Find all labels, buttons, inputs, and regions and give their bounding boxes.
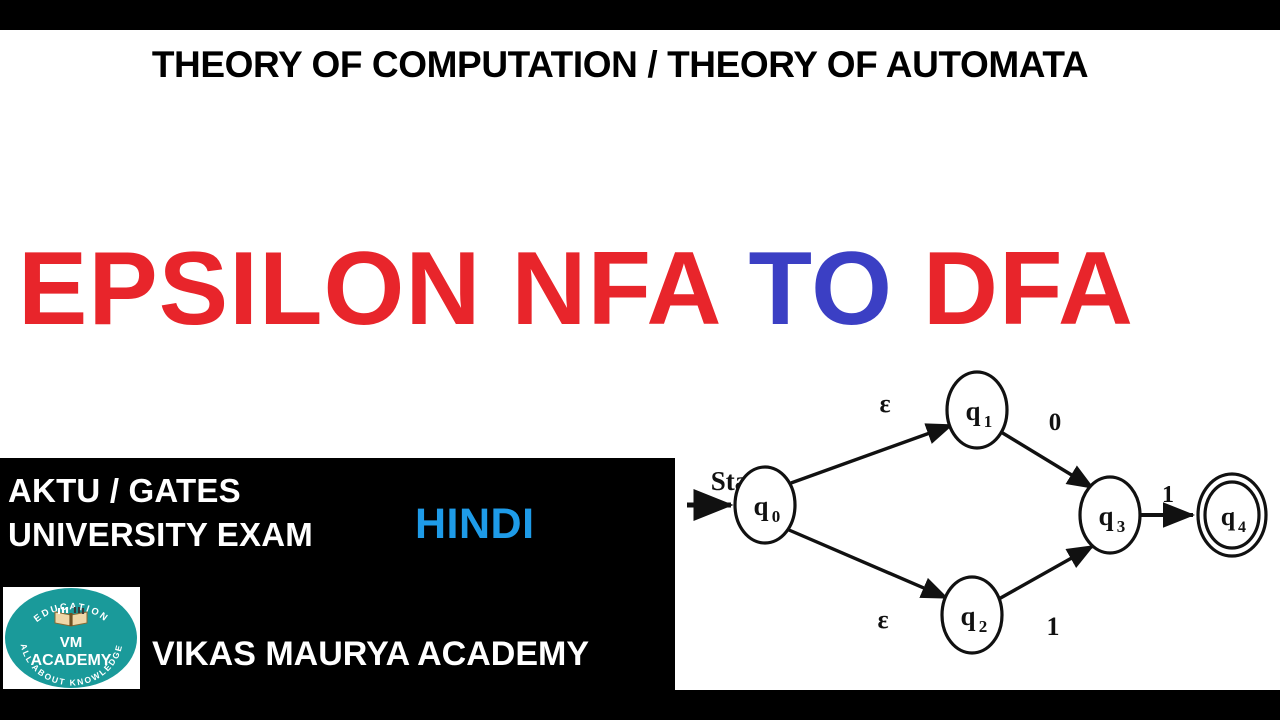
state-node-q1: q 1 bbox=[947, 372, 1007, 448]
thumbnail-canvas: THEORY OF COMPUTATION / THEORY OF AUTOMA… bbox=[0, 0, 1280, 720]
language-badge: HINDI bbox=[415, 500, 535, 549]
state-node-q0: q 0 bbox=[735, 467, 795, 543]
edge-label-q1-q3: 0 bbox=[1049, 409, 1062, 436]
logo-center-line-1: VM bbox=[60, 634, 83, 651]
edge-q0-q2 bbox=[789, 530, 947, 598]
exam-label-line-2: UNIVERSITY EXAM bbox=[8, 516, 313, 554]
top-letterbox-bar bbox=[0, 0, 1280, 30]
state-subscript-q1: 1 bbox=[984, 412, 993, 431]
state-subscript-q4: 4 bbox=[1238, 519, 1246, 536]
state-label-q3: q bbox=[1098, 501, 1113, 531]
edge-label-q0-q2: ε bbox=[877, 605, 888, 634]
headline-part-dfa: DFA bbox=[923, 231, 1134, 347]
edge-label-q0-q1: ε bbox=[879, 389, 890, 418]
vm-academy-logo: EDUCATION ALL ABOUT KNOWLEDGE VM ACADEMY bbox=[3, 587, 140, 689]
edge-label-q2-q3: 1 bbox=[1047, 612, 1060, 641]
edge-q2-q3 bbox=[997, 546, 1093, 600]
state-label-q0: q bbox=[753, 491, 768, 521]
exam-label-line-1: AKTU / GATES bbox=[8, 472, 241, 510]
headline-part-to: TO bbox=[748, 231, 893, 347]
headline-part-epsilon-nfa: EPSILON NFA bbox=[18, 231, 719, 347]
info-panel: AKTU / GATES UNIVERSITY EXAM HINDI VIKAS… bbox=[0, 458, 675, 690]
logo-center-line-2: ACADEMY bbox=[31, 652, 112, 669]
state-node-q3: q 3 bbox=[1080, 477, 1140, 553]
headline: EPSILON NFA TO DFA bbox=[18, 237, 1134, 341]
state-label-q1: q bbox=[965, 396, 980, 426]
edge-q1-q3 bbox=[1001, 432, 1093, 488]
state-transition-diagram-svg: Start ε ε 0 1 1 q 0 q 1 bbox=[675, 350, 1280, 690]
state-node-q2: q 2 bbox=[942, 577, 1002, 653]
page-title: THEORY OF COMPUTATION / THEORY OF AUTOMA… bbox=[0, 44, 1240, 86]
state-subscript-q2: 2 bbox=[979, 617, 988, 636]
edge-q0-q1 bbox=[791, 425, 952, 483]
state-node-q4-accepting: q 4 bbox=[1198, 474, 1266, 556]
state-subscript-q0: 0 bbox=[772, 507, 781, 526]
state-subscript-q3: 3 bbox=[1117, 517, 1126, 536]
state-label-q2: q bbox=[960, 601, 975, 631]
bottom-letterbox-bar bbox=[0, 690, 1280, 720]
avatar: EDUCATION ALL ABOUT KNOWLEDGE VM ACADEMY bbox=[3, 587, 140, 689]
automaton-diagram: Start ε ε 0 1 1 q 0 q 1 bbox=[675, 350, 1280, 690]
academy-name-label: VIKAS MAURYA ACADEMY bbox=[152, 635, 589, 674]
state-label-q4: q bbox=[1221, 502, 1236, 531]
edge-label-q3-q4: 1 bbox=[1162, 482, 1174, 508]
